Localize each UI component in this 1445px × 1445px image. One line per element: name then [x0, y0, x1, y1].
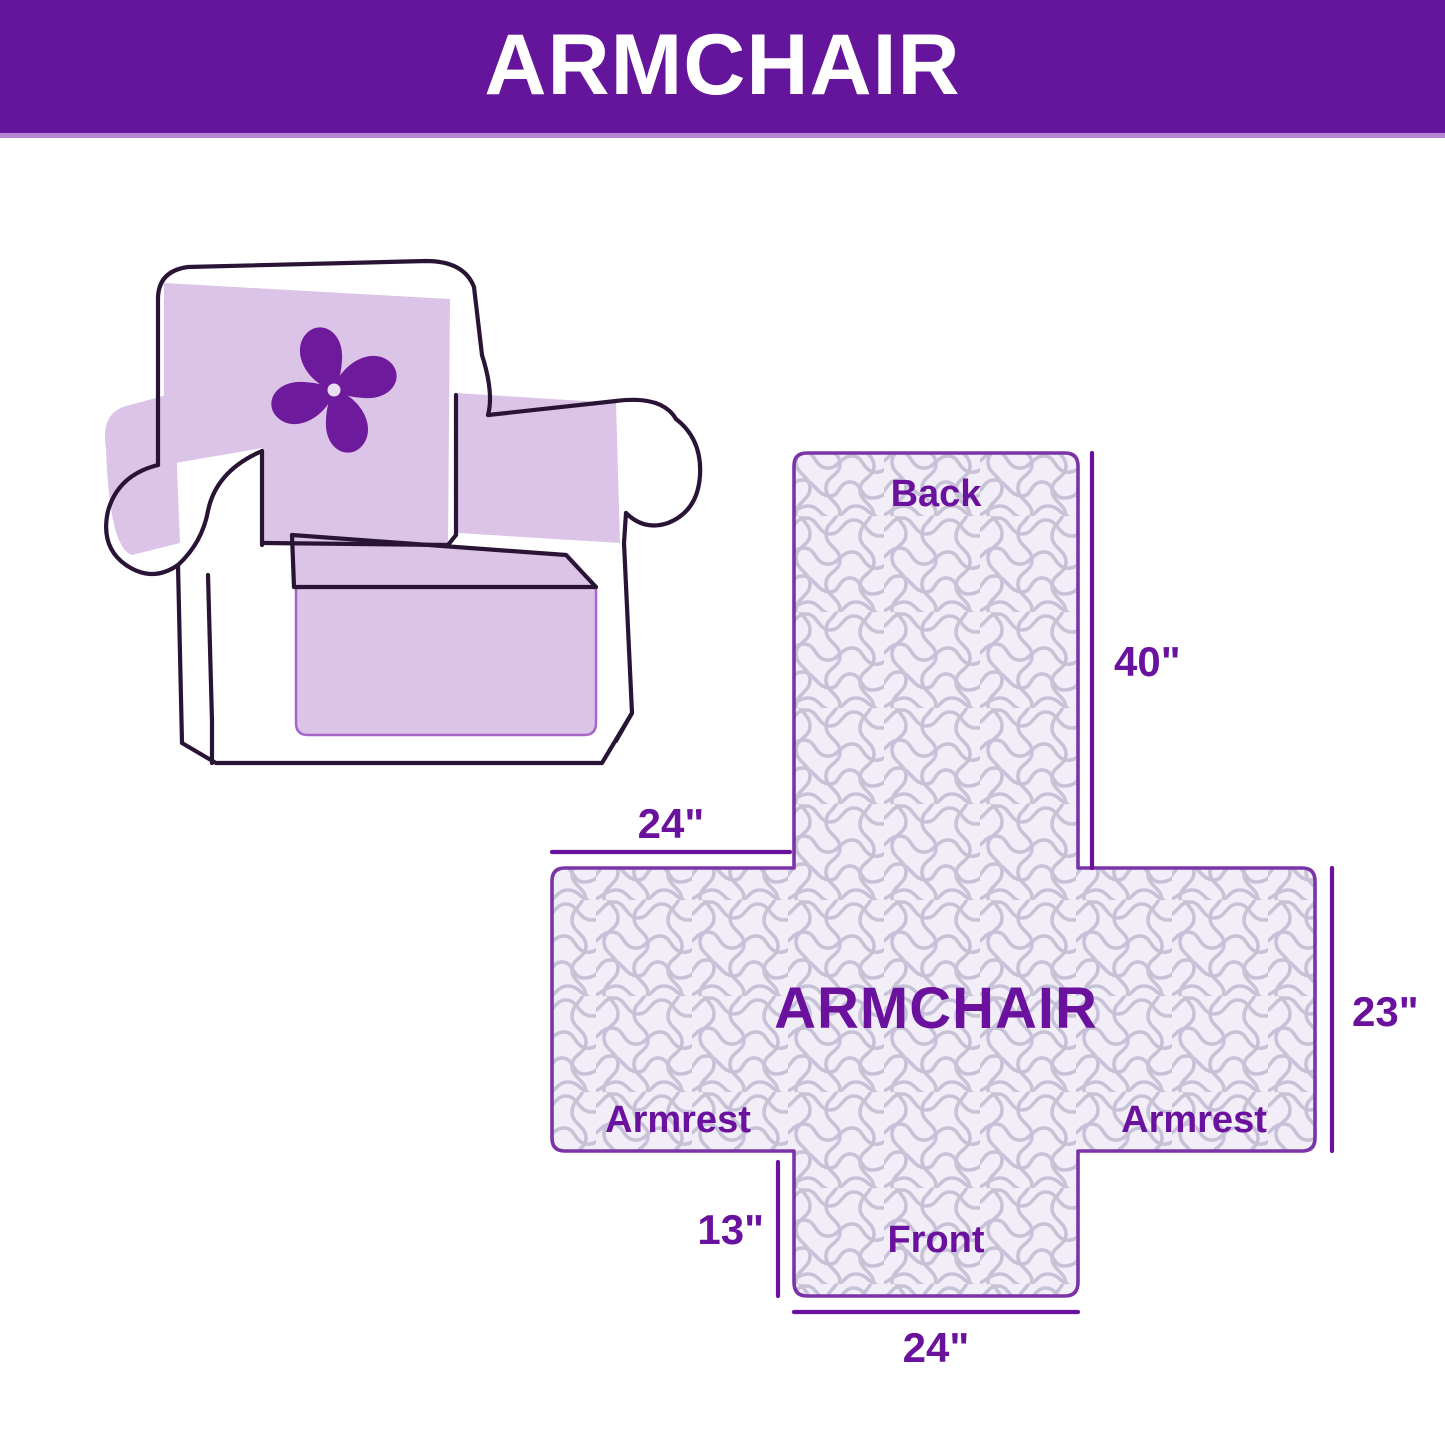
panel-label-armrest-right: Armrest — [1121, 1099, 1267, 1141]
dimension-value-front-width: 24" — [903, 1324, 970, 1371]
slipcover-cross-diagram-svg: Back ARMCHAIR Armrest Armrest Front 40" … — [500, 420, 1445, 1420]
dimension-center-height: 23" — [1332, 868, 1419, 1151]
dimension-value-back-height: 40" — [1114, 638, 1181, 685]
slipcover-cross-diagram: Back ARMCHAIR Armrest Armrest Front 40" … — [500, 420, 1445, 1420]
panel-label-front: Front — [887, 1219, 984, 1261]
dimension-value-center-height: 23" — [1352, 988, 1419, 1035]
dimension-front-width: 24" — [794, 1312, 1078, 1371]
dimension-armrest-top-width: 24" — [552, 800, 790, 852]
header-banner: ARMCHAIR — [0, 0, 1445, 133]
page-title: ARMCHAIR — [484, 22, 960, 108]
dimension-back-height: 40" — [1092, 453, 1181, 868]
left-arm-outer-panel — [105, 393, 180, 555]
product-size-guide-page: ARMCHAIR — [0, 0, 1445, 1445]
panel-label-back: Back — [891, 473, 983, 515]
dimension-value-front-height: 13" — [697, 1206, 764, 1253]
dimension-value-armrest-top-width: 24" — [638, 800, 705, 847]
panel-label-center: ARMCHAIR — [774, 976, 1098, 1041]
dimension-front-height: 13" — [697, 1162, 778, 1296]
panel-label-armrest-left: Armrest — [605, 1099, 751, 1141]
banner-underline-divider — [0, 133, 1445, 138]
slipcover-cross-shape — [552, 453, 1315, 1296]
